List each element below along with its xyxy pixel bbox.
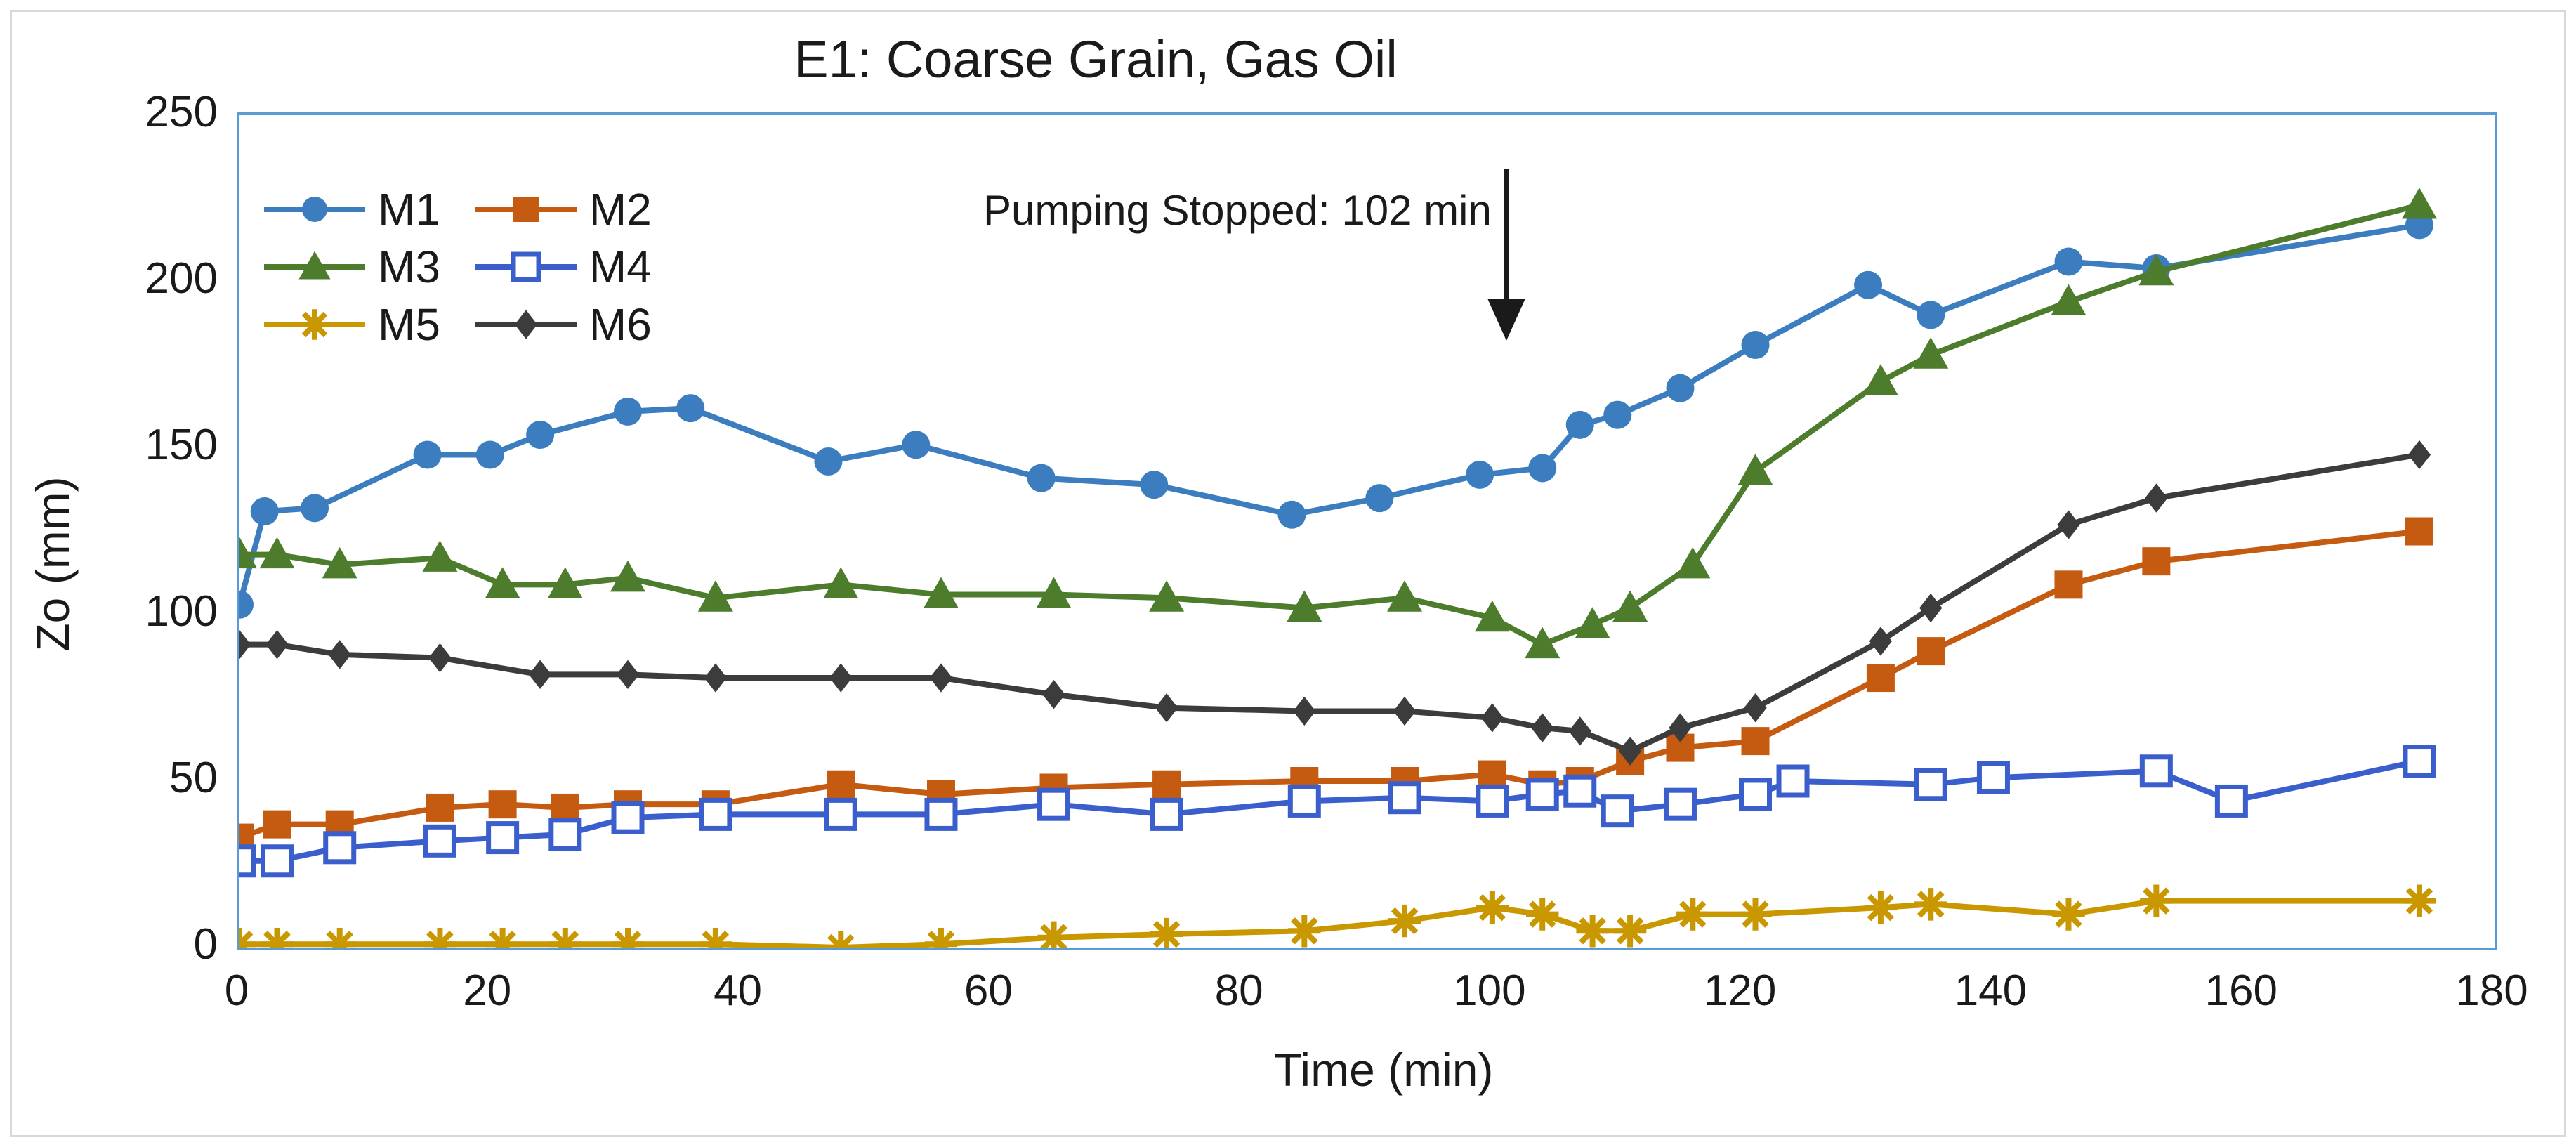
- x-tick-label: 0: [159, 969, 314, 1013]
- y-tick-label: 150: [77, 424, 218, 467]
- x-tick-label: 140: [1913, 969, 2068, 1013]
- x-tick-label: 120: [1663, 969, 1818, 1013]
- legend-item-m6[interactable]: M6: [473, 299, 652, 350]
- x-axis-title: Time (min): [1067, 1047, 1700, 1093]
- legend-label: M5: [378, 302, 440, 347]
- legend-label: M4: [589, 244, 652, 289]
- x-tick-label: 20: [410, 969, 565, 1013]
- x-tick-label: 180: [2414, 969, 2569, 1013]
- legend-label: M6: [589, 302, 652, 347]
- legend-item-m1[interactable]: M1: [261, 184, 440, 235]
- y-tick-label: 0: [77, 923, 218, 966]
- chart-figure: E1: Coarse Grain, Gas Oil 25020015010050…: [0, 0, 2576, 1147]
- annotation-arrow-icon: [1482, 169, 1531, 344]
- x-axis-tick-labels: 020406080100120140160180: [237, 969, 2492, 1025]
- x-tick-label: 40: [661, 969, 815, 1013]
- square-marker-icon: [473, 188, 579, 230]
- legend-label: M3: [378, 244, 440, 289]
- legend-item-m2[interactable]: M2: [473, 184, 652, 235]
- legend-label: M1: [378, 187, 440, 232]
- triangle-marker-icon: [261, 246, 368, 288]
- x-tick-label: 160: [2164, 969, 2318, 1013]
- legend-item-m5[interactable]: M5: [261, 299, 440, 350]
- x-tick-label: 100: [1412, 969, 1567, 1013]
- legend-label: M2: [589, 187, 652, 232]
- y-tick-label: 100: [77, 590, 218, 634]
- legend-item-m3[interactable]: M3: [261, 242, 440, 292]
- x-tick-label: 80: [1162, 969, 1316, 1013]
- y-tick-label: 200: [77, 257, 218, 301]
- series-m5: [239, 884, 2436, 948]
- legend-item-m4[interactable]: M4: [473, 242, 652, 292]
- diamond-marker-icon: [473, 303, 579, 346]
- y-axis-title: Zo (mm): [29, 409, 76, 719]
- pumping-stopped-annotation: Pumping Stopped: 102 min: [983, 190, 1492, 232]
- circle-marker-icon: [261, 188, 368, 230]
- y-axis-tick-labels: 250200150100500: [70, 112, 218, 945]
- x-tick-label: 60: [911, 969, 1065, 1013]
- chart-legend: M1M2M3M4M5M6: [261, 184, 652, 350]
- open-square-marker-icon: [473, 246, 579, 288]
- chart-title: E1: Coarse Grain, Gas Oil: [632, 34, 1559, 86]
- y-tick-label: 50: [77, 756, 218, 800]
- asterisk-marker-icon: [261, 303, 368, 346]
- y-tick-label: 250: [77, 91, 218, 134]
